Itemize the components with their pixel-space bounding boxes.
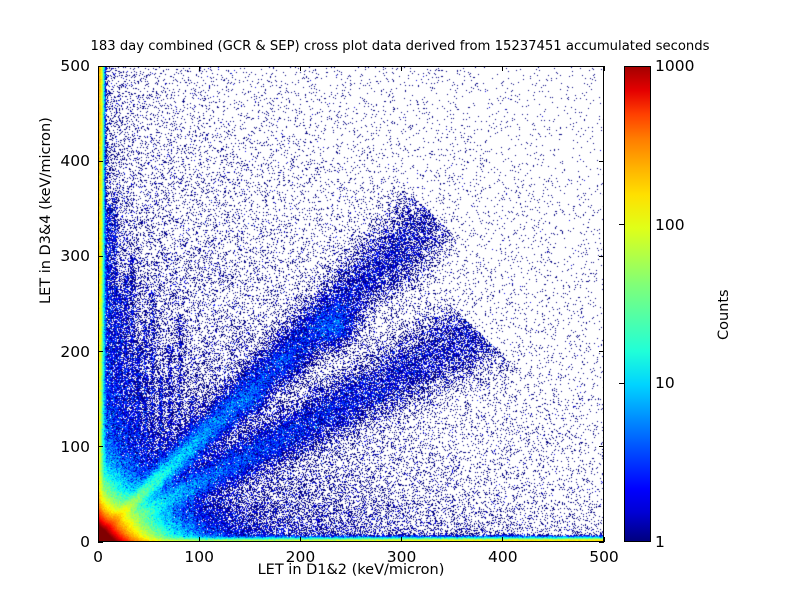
x-tick-mark-top [98, 66, 99, 71]
x-tick-mark-top [199, 66, 200, 71]
scatter-density-canvas [99, 67, 604, 542]
colorbar-tick-label: 100 [655, 216, 685, 234]
y-tick-mark [98, 256, 103, 257]
x-tick-mark-top [401, 66, 402, 71]
y-tick-mark [98, 351, 103, 352]
y-tick-mark-right [599, 446, 604, 447]
x-tick-mark [401, 537, 402, 542]
colorbar [624, 66, 651, 542]
figure-canvas: 183 day combined (GCR & SEP) cross plot … [0, 0, 800, 600]
y-tick-label: 200 [40, 343, 90, 361]
colorbar-title: Counts [716, 289, 732, 340]
y-tick-mark [98, 446, 103, 447]
plot-axes [98, 66, 604, 542]
y-tick-mark-right [599, 351, 604, 352]
x-tick-mark-top [300, 66, 301, 71]
colorbar-tick-label: 1000 [655, 57, 694, 75]
y-tick-mark [98, 161, 103, 162]
x-tick-mark [300, 537, 301, 542]
y-axis-title: LET in D3&4 (keV/micron) [38, 117, 54, 304]
y-tick-mark-right [599, 66, 604, 67]
y-tick-mark-right [599, 161, 604, 162]
y-tick-label: 0 [40, 533, 90, 551]
title-line-1: 183 day combined (GCR & SEP) cross plot … [0, 38, 800, 55]
y-tick-label: 100 [40, 438, 90, 456]
colorbar-tick-label: 1 [655, 533, 665, 551]
y-tick-label: 500 [40, 57, 90, 75]
colorbar-tick-label: 10 [655, 374, 675, 392]
y-tick-mark [98, 542, 103, 543]
y-tick-mark [98, 66, 103, 67]
x-tick-mark [199, 537, 200, 542]
y-tick-mark-right [599, 256, 604, 257]
x-tick-mark [502, 537, 503, 542]
x-tick-mark-top [502, 66, 503, 71]
colorbar-tick-mark [619, 383, 624, 384]
x-axis-title: LET in D1&2 (keV/micron) [98, 562, 604, 578]
y-tick-mark-right [599, 542, 604, 543]
colorbar-tick-mark [619, 224, 624, 225]
x-tick-mark-top [604, 66, 605, 71]
